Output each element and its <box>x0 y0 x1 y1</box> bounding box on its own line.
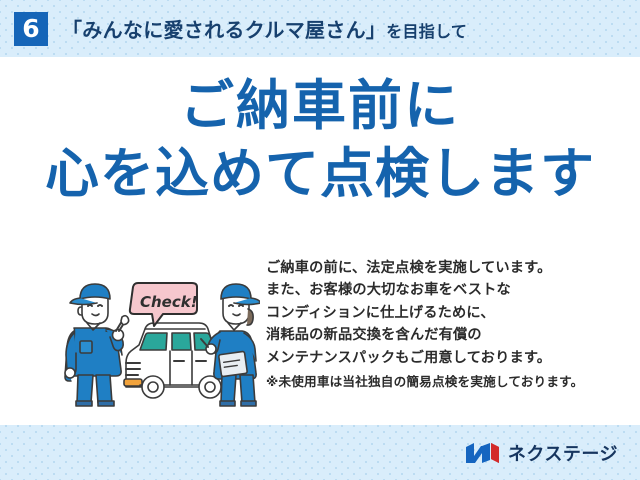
description-line-2: また、お客様の大切なお車をベストな <box>266 279 626 301</box>
nextage-n-icon <box>465 442 501 464</box>
description-text: ご納車の前に、法定点検を実施しています。 また、お客様の大切なお車をベストな コ… <box>266 257 626 392</box>
brand-name: ネクステージ <box>508 440 618 466</box>
description-line-4: 消耗品の新品交換を含んだ有償の <box>266 324 626 346</box>
brand-logo: ネクステージ <box>465 440 618 466</box>
check-bubble-label: Check! <box>140 293 198 311</box>
description-line-3: コンディションに仕上げるために、 <box>266 302 626 324</box>
headline-line-1: ご納車前に <box>0 79 640 133</box>
header-title: 「みんなに愛されるクルマ屋さん」 を目指して <box>62 14 467 43</box>
description-note: ※未使用車は当社独自の簡易点検を実施しております。 <box>266 372 626 392</box>
header-title-main: 「みんなに愛されるクルマ屋さん」 <box>62 14 386 43</box>
promo-banner: 6 「みんなに愛されるクルマ屋さん」 を目指して ご納車前に 心を込めて点検しま… <box>0 0 640 480</box>
description-line-1: ご納車の前に、法定点検を実施しています。 <box>266 257 626 279</box>
content-panel: ご納車前に 心を込めて点検します <box>0 57 640 425</box>
page-title: ご納車前に 心を込めて点検します <box>0 79 640 201</box>
banner-footer: ネクステージ <box>0 425 640 480</box>
headline-line-2: 心を込めて点検します <box>0 147 640 201</box>
banner-header: 6 「みんなに愛されるクルマ屋さん」 を目指して <box>0 0 640 57</box>
mechanic-left-icon <box>65 284 129 406</box>
car-icon <box>124 323 226 398</box>
section-number-badge: 6 <box>14 12 48 46</box>
mechanics-illustration: Check! <box>60 265 260 410</box>
header-title-tail: を目指して <box>386 18 467 42</box>
description-line-5: メンテナンスパックもご用意しております。 <box>266 347 626 369</box>
